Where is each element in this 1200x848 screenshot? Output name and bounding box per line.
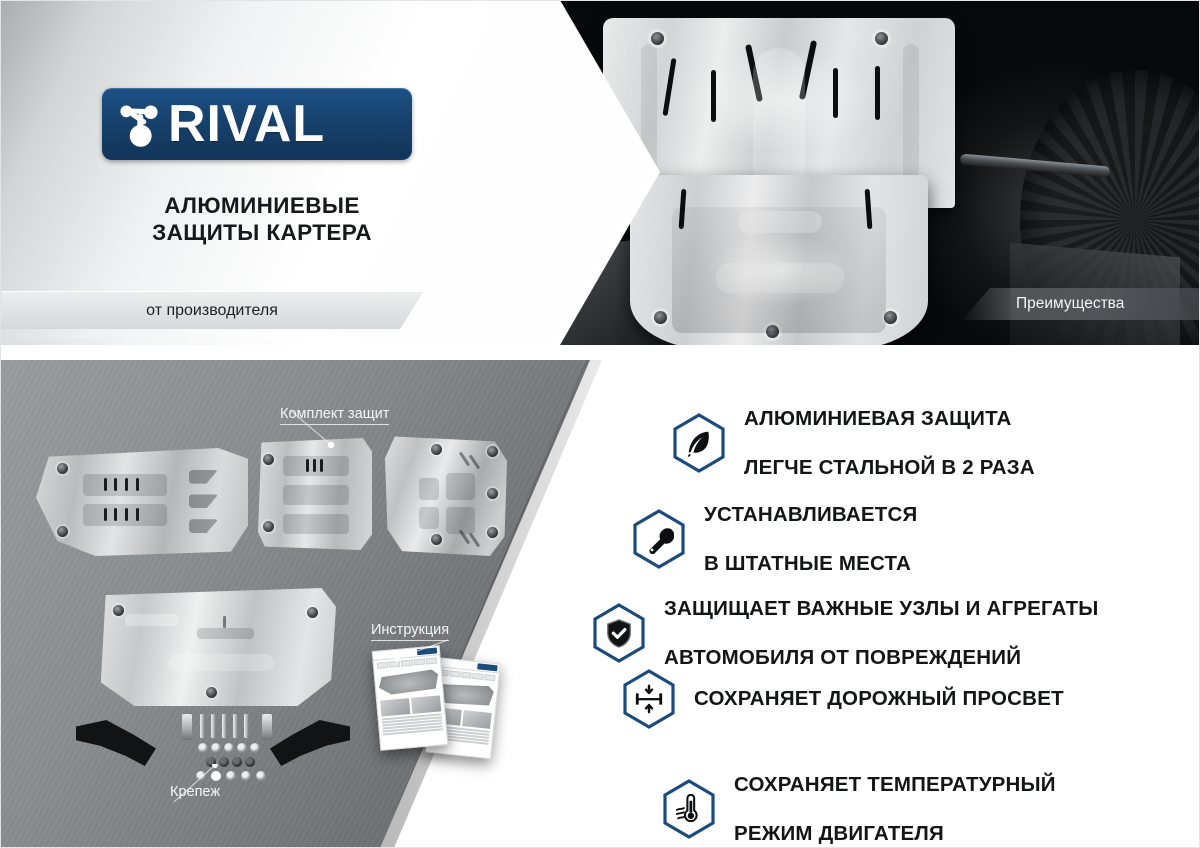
section-tag-bar: Преимущества (962, 288, 1200, 320)
benefit-1-line-2: ЛЕГЧЕ СТАЛЬНОЙ В 2 РАЗА (744, 456, 1035, 481)
callout-underline (371, 640, 449, 641)
benefit-5-line-2: РЕЖИМ ДВИГАТЕЛЯ (734, 822, 1056, 847)
shield-check-glyph (604, 618, 634, 648)
callout-kit-label: Комплект защит (280, 406, 389, 422)
callout-hardware-label: Крепеж (170, 784, 220, 800)
leader-line-instruction (388, 638, 458, 662)
callout-underline (280, 424, 389, 425)
section-tag-text: Преимущества (1016, 295, 1124, 313)
wrench-glyph (644, 524, 674, 554)
benefit-item-5: СОХРАНЯЕТ ТЕМПЕРАТУРНЫЙ РЕЖИМ ДВИГАТЕЛЯ (662, 748, 1056, 848)
callout-hardware: Крепеж (170, 784, 220, 800)
callout-instruction: Инструкция (371, 622, 449, 641)
logo-wordmark: RIVAL (168, 98, 325, 150)
product-skid-plate-large (36, 448, 248, 556)
subtitle-text: от производителя (146, 302, 278, 320)
hero-section: RIVAL АЛЮМИНИЕВЫЕ ЗАЩИТЫ КАРТЕРА от прои… (0, 0, 1200, 360)
benefit-1-line-1: АЛЮМИНИЕВАЯ ЗАЩИТА (744, 407, 1035, 432)
page-title-line-1: АЛЮМИНИЕВЫЕ (102, 192, 422, 219)
subtitle-bar: от производителя (0, 291, 424, 329)
callout-kit: Комплект защит (280, 406, 389, 425)
infographic-poster: RIVAL АЛЮМИНИЕВЫЕ ЗАЩИТЫ КАРТЕРА от прои… (0, 0, 1200, 848)
benefit-3-line-1: ЗАЩИЩАЕТ ВАЖНЫЕ УЗЛЫ И АГРЕГАТЫ (664, 597, 1099, 622)
ground-clearance-glyph (634, 684, 664, 714)
wrench-icon (632, 509, 686, 569)
instruction-logo-icon (477, 663, 498, 671)
product-and-benefits-section: Комплект защит Инструкция Крепеж (0, 360, 1200, 848)
thermometer-glyph (674, 794, 704, 824)
rival-logo: RIVAL (102, 88, 412, 160)
callout-instruction-label: Инструкция (371, 622, 449, 638)
benefit-item-4: СОХРАНЯЕТ ДОРОЖНЫЙ ПРОСВЕТ (622, 662, 1064, 736)
ground-clearance-icon (622, 669, 676, 729)
benefit-text-5: СОХРАНЯЕТ ТЕМПЕРАТУРНЫЙ РЕЖИМ ДВИГАТЕЛЯ (734, 748, 1056, 848)
product-skid-plate-medium (258, 438, 372, 550)
page-title: АЛЮМИНИЕВЫЕ ЗАЩИТЫ КАРТЕРА (102, 192, 422, 247)
benefit-text-4: СОХРАНЯЕТ ДОРОЖНЫЙ ПРОСВЕТ (694, 662, 1064, 736)
instruction-diagram (378, 666, 440, 697)
feather-glyph (684, 428, 714, 458)
product-skid-plate-small (385, 434, 507, 556)
page-title-line-2: ЗАЩИТЫ КАРТЕРА (102, 219, 422, 246)
benefit-4-line-1: СОХРАНЯЕТ ДОРОЖНЫЙ ПРОСВЕТ (694, 687, 1064, 712)
benefit-2-line-1: УСТАНАВЛИВАЕТСЯ (704, 503, 917, 528)
installed-skid-plate-lower (630, 175, 928, 350)
divider-strip (0, 345, 1200, 360)
feather-icon (672, 413, 726, 473)
benefit-5-line-1: СОХРАНЯЕТ ТЕМПЕРАТУРНЫЙ (734, 773, 1056, 798)
product-skid-plate-wide (96, 588, 336, 706)
shield-check-icon (592, 603, 646, 663)
thermometer-icon (662, 779, 716, 839)
molecule-icon (112, 97, 166, 151)
